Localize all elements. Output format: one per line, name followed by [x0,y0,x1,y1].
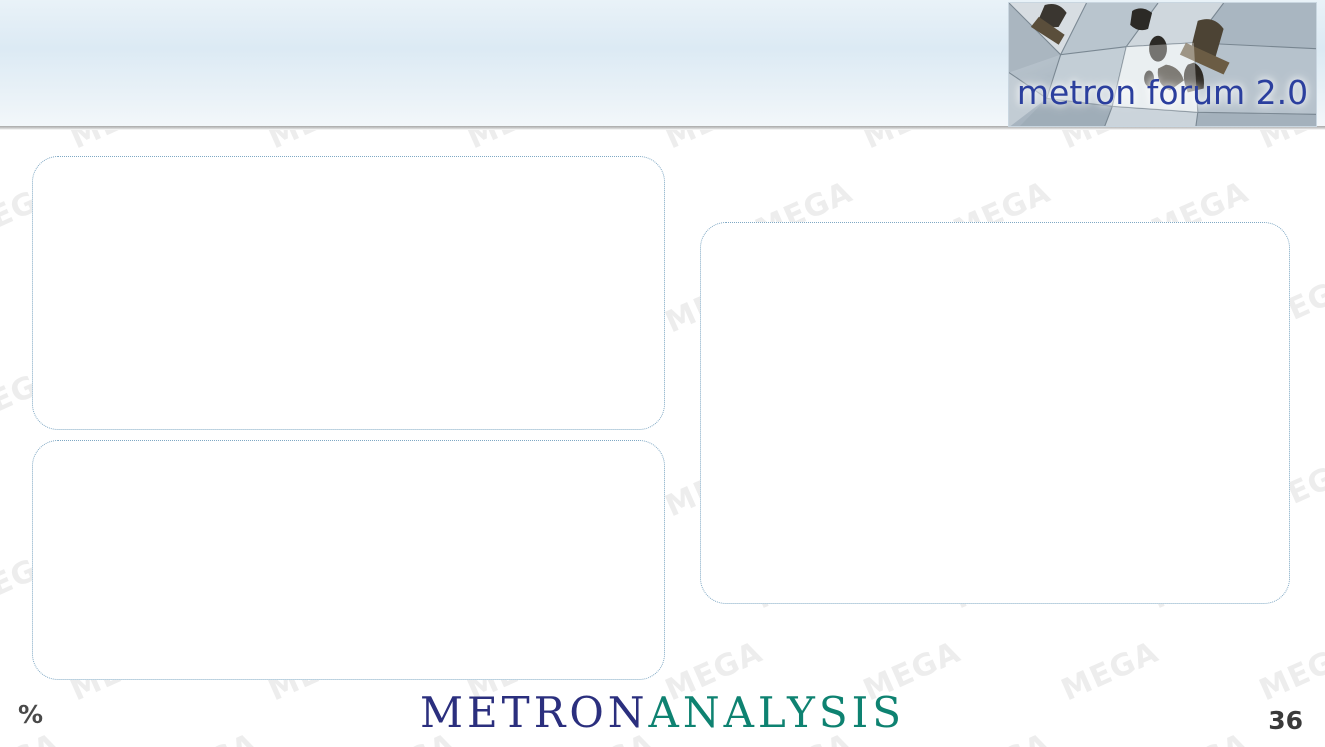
slide-root: MEGAMEGAMEGAMEGAMEGAMEGAMEGAMEGAMEGAMEGA… [0,0,1325,747]
percent-symbol: % [18,700,43,729]
logo-text: metron forum 2.0 [1009,73,1316,112]
card-trend-chart [32,440,665,680]
card-political-chart [700,222,1290,604]
metron-forum-logo: metron forum 2.0 [1008,2,1317,127]
brand-analysis: ANALYSIS [649,688,905,737]
metron-analysis-logo: METRONANALYSIS [0,688,1325,737]
brand-metron: METRON [420,688,648,737]
card-main-bar-chart [32,156,665,430]
page-number: 36 [1268,706,1303,735]
